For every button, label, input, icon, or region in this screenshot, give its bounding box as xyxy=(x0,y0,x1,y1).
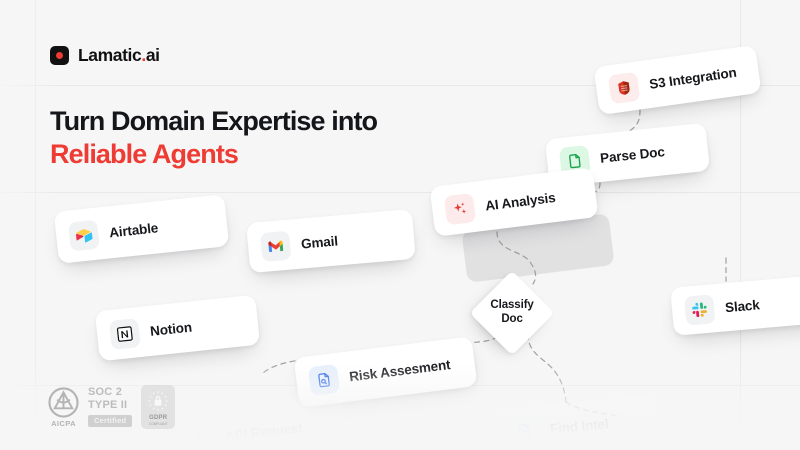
compliance-badges: AICPA SOC 2 TYPE II Certified GDPR xyxy=(48,385,175,429)
flow-node-notion[interactable]: Notion xyxy=(95,295,260,362)
left-fade-overlay xyxy=(0,0,60,450)
airtable-icon xyxy=(68,219,100,251)
flow-node-api-request[interactable]: API Request xyxy=(170,398,347,450)
gdpr-label: GDPR xyxy=(149,415,167,421)
flow-node-risk-assesment[interactable]: Risk Assesment xyxy=(294,336,478,407)
flow-node-gmail[interactable]: Gmail xyxy=(246,209,416,273)
brand-logo[interactable]: Lamatic.ai xyxy=(50,45,160,66)
flow-node-slack[interactable]: Slack xyxy=(670,274,800,336)
classify-doc-label-line1: Classify xyxy=(490,299,533,313)
brand-name-suffix: ai xyxy=(146,45,160,65)
airtable-label: Airtable xyxy=(108,220,158,240)
headline-line-1: Turn Domain Expertise into xyxy=(50,105,470,138)
gdpr-stars-lock-icon xyxy=(146,389,170,413)
notion-label: Notion xyxy=(149,319,192,338)
grid-line-horizontal xyxy=(0,192,800,193)
classify-doc-label-line2: Doc xyxy=(490,313,533,327)
gdpr-badge: GDPR COMPLIANT xyxy=(141,385,175,429)
brand-name: Lamatic.ai xyxy=(78,45,160,66)
hero-canvas: S3 IntegrationParse DocAI AnalysisAirtab… xyxy=(0,0,800,450)
notion-icon xyxy=(109,318,141,350)
aicpa-seal-icon xyxy=(48,387,79,418)
brand-name-main: Lamatic xyxy=(78,45,141,65)
aicpa-badge: AICPA xyxy=(48,387,79,428)
grid-line-vertical xyxy=(35,0,36,450)
ai-analysis-label: AI Analysis xyxy=(484,189,556,212)
document-blue-icon xyxy=(509,415,540,446)
connector-classify-to-find xyxy=(528,334,566,402)
parse-doc-label: Parse Doc xyxy=(599,144,665,166)
find-intel-label: Find Intel xyxy=(549,416,609,436)
flow-node-s3-integration[interactable]: S3 Integration xyxy=(593,45,761,115)
soc2-line-1: SOC 2 xyxy=(88,387,122,399)
soc2-certified-tag: Certified xyxy=(88,415,132,427)
aws-s3-icon xyxy=(608,71,641,104)
risk-assesment-label: Risk Assesment xyxy=(348,357,451,384)
soc2-line-2: TYPE II xyxy=(88,400,127,412)
sparkles-icon xyxy=(444,192,476,224)
slack-label: Slack xyxy=(724,297,760,315)
document-search-icon xyxy=(308,363,340,395)
headline-line-2: Reliable Agents xyxy=(50,138,470,171)
aicpa-label: AICPA xyxy=(51,419,76,428)
page-title: Turn Domain Expertise into Reliable Agen… xyxy=(50,105,470,171)
gmail-label: Gmail xyxy=(300,233,338,251)
gmail-icon xyxy=(260,230,291,261)
soc2-badge: SOC 2 TYPE II Certified xyxy=(88,387,132,427)
flow-node-airtable[interactable]: Airtable xyxy=(54,194,229,264)
s3-integration-label: S3 Integration xyxy=(648,64,737,91)
lamatic-mark-icon xyxy=(50,46,69,65)
api-icon xyxy=(184,422,216,450)
flow-node-find-intel[interactable]: Find Intel xyxy=(495,395,660,450)
gdpr-sublabel: COMPLIANT xyxy=(149,423,168,426)
api-request-label: API Request xyxy=(224,420,303,443)
flow-node-classify-doc[interactable]: Classify Doc xyxy=(470,271,555,356)
slack-icon xyxy=(684,294,715,325)
